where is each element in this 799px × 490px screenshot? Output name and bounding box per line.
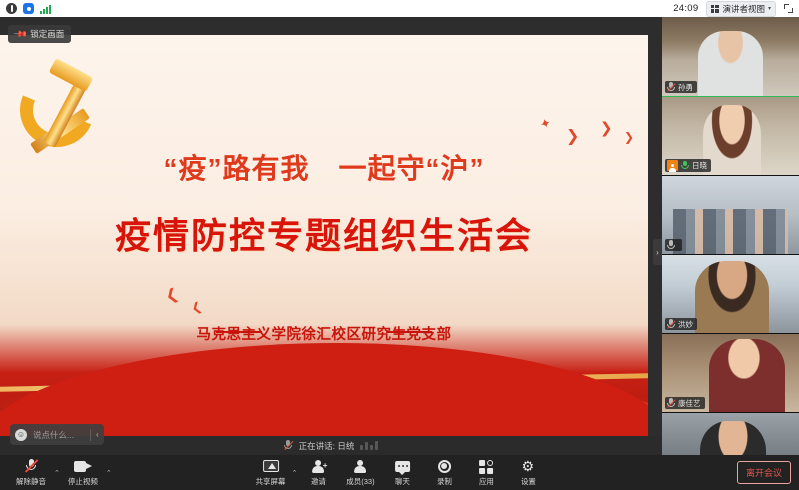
participant-name: 康佳艺 — [678, 399, 701, 408]
mic-unmuted-icon — [681, 161, 689, 171]
chat-button[interactable]: 聊天 — [381, 457, 423, 489]
info-icon[interactable] — [6, 3, 17, 14]
video-tile[interactable]: 康佳艺 — [662, 333, 799, 412]
participant-video-strip[interactable]: 孙勇 日晓 — [662, 17, 799, 455]
video-options-chevron-icon[interactable]: ⌃ — [106, 469, 112, 489]
lock-screen-label: 锁定画面 — [30, 28, 64, 40]
speaking-status-label: 正在讲话: 日统 — [299, 440, 355, 452]
leave-meeting-button[interactable]: 离开会议 — [737, 461, 791, 484]
zoom-meeting-window: 24:09 演讲者视图 ▾ 📌 锁定画面 ✦ ❯ ❯ ❯ — [0, 0, 799, 490]
camera-icon — [74, 459, 92, 474]
mic-muted-icon — [25, 459, 37, 474]
pin-icon: 📌 — [13, 26, 29, 42]
shield-icon[interactable] — [23, 3, 34, 14]
record-button[interactable]: 录制 — [423, 457, 465, 489]
share-screen-icon — [263, 459, 279, 474]
presentation-slide: ✦ ❯ ❯ ❯ ❯ ❯ “疫”路有我 一起守“沪” 疫情防控专题组织生活会 马克… — [0, 35, 648, 437]
mic-muted-icon — [667, 319, 675, 329]
chevron-down-icon: ▾ — [768, 5, 771, 12]
top-status-bar: 24:09 演讲者视图 ▾ — [0, 0, 799, 17]
mic-muted-icon — [667, 82, 675, 92]
invite-button[interactable]: + 邀请 — [297, 457, 339, 489]
meeting-top-controls: 24:09 演讲者视图 ▾ — [673, 1, 799, 17]
participant-name: 洪妙 — [678, 320, 693, 329]
participants-label: 成员(33) — [346, 476, 374, 487]
video-tile[interactable]: 洪妙 — [662, 254, 799, 333]
divider — [90, 429, 91, 441]
participant-name-chip: 康佳艺 — [665, 397, 705, 409]
record-icon — [438, 459, 451, 474]
invite-label: 邀请 — [311, 476, 326, 487]
participant-name-chip: 日晓 — [665, 159, 711, 172]
apps-button[interactable]: 应用 — [465, 457, 507, 489]
share-screen-button[interactable]: 共享屏幕 — [250, 457, 292, 489]
meeting-timer: 24:09 — [673, 3, 698, 14]
video-tile[interactable]: 日晓 — [662, 96, 799, 175]
mic-muted-icon — [667, 240, 675, 250]
apps-icon — [479, 459, 493, 474]
bird-decoration-icon: ❯ — [566, 129, 579, 145]
collapse-chat-icon[interactable]: ‹ — [96, 430, 99, 439]
bird-decoration-icon: ❯ — [164, 287, 181, 305]
chat-input-placeholder: 说点什么... — [33, 429, 85, 441]
participants-icon — [353, 459, 367, 474]
bird-decoration-icon: ✦ — [538, 116, 552, 132]
fullscreen-icon[interactable] — [784, 4, 793, 13]
share-screen-label: 共享屏幕 — [256, 476, 286, 487]
speaker-view-icon — [711, 5, 719, 13]
slide-title: “疫”路有我 一起守“沪” — [0, 147, 648, 187]
stop-video-button-label: 停止视频 — [68, 476, 98, 487]
video-tile[interactable] — [662, 412, 799, 455]
view-mode-selector[interactable]: 演讲者视图 ▾ — [706, 1, 776, 17]
participant-name: 孙勇 — [678, 83, 693, 92]
lock-screen-chip[interactable]: 📌 锁定画面 — [8, 25, 71, 43]
slide-subtitle: 疫情防控专题组织生活会 — [0, 207, 648, 259]
video-tile[interactable] — [662, 175, 799, 254]
view-mode-label: 演讲者视图 — [722, 3, 765, 15]
participant-name-chip: 洪妙 — [665, 318, 697, 330]
record-label: 录制 — [437, 476, 452, 487]
participants-button[interactable]: 成员(33) — [339, 457, 381, 489]
mute-button[interactable]: 解除静音 — [10, 457, 52, 489]
bird-decoration-icon: ❯ — [624, 131, 634, 143]
host-badge-icon — [667, 160, 678, 171]
participant-name-chip: 孙勇 — [665, 81, 697, 93]
mic-muted-icon — [667, 398, 675, 408]
toolbar-center-group: 共享屏幕 ⌃ + 邀请 成员(33) 聊天 — [250, 457, 550, 489]
os-tray-icons — [0, 3, 51, 14]
participant-name-chip — [665, 239, 682, 251]
audio-wave-icon — [360, 441, 378, 450]
signal-icon[interactable] — [40, 3, 51, 14]
slide-chat-input[interactable]: ☺ 说点什么... ‹ — [10, 424, 104, 445]
gear-icon: ⚙ — [521, 459, 535, 474]
toolbar-left-group: 解除静音 ⌃ 停止视频 ⌃ — [0, 457, 112, 489]
settings-label: 设置 — [521, 476, 536, 487]
toolbar-right-group: 离开会议 — [737, 461, 799, 484]
chat-label: 聊天 — [395, 476, 410, 487]
participant-name: 日晓 — [692, 161, 707, 170]
shared-screen-area: 📌 锁定画面 ✦ ❯ ❯ ❯ ❯ ❯ “疫”路有我 一起守“沪” 疫情防控专题组… — [0, 17, 662, 455]
chat-icon — [395, 459, 410, 474]
bird-decoration-icon: ❯ — [600, 121, 613, 136]
apps-label: 应用 — [479, 476, 494, 487]
mic-muted-icon — [284, 440, 293, 451]
mute-button-label: 解除静音 — [16, 476, 46, 487]
stop-video-button[interactable]: 停止视频 — [62, 457, 104, 489]
invite-icon: + — [311, 459, 325, 474]
bird-decoration-icon: ❯ — [190, 302, 204, 317]
collapse-panel-handle[interactable]: › — [653, 239, 662, 265]
emoji-icon[interactable]: ☺ — [15, 429, 27, 441]
mute-options-chevron-icon[interactable]: ⌃ — [54, 469, 60, 489]
video-tile[interactable]: 孙勇 — [662, 17, 799, 96]
settings-button[interactable]: ⚙ 设置 — [507, 457, 549, 489]
meeting-toolbar: 解除静音 ⌃ 停止视频 ⌃ 共享屏幕 ⌃ + — [0, 455, 799, 490]
